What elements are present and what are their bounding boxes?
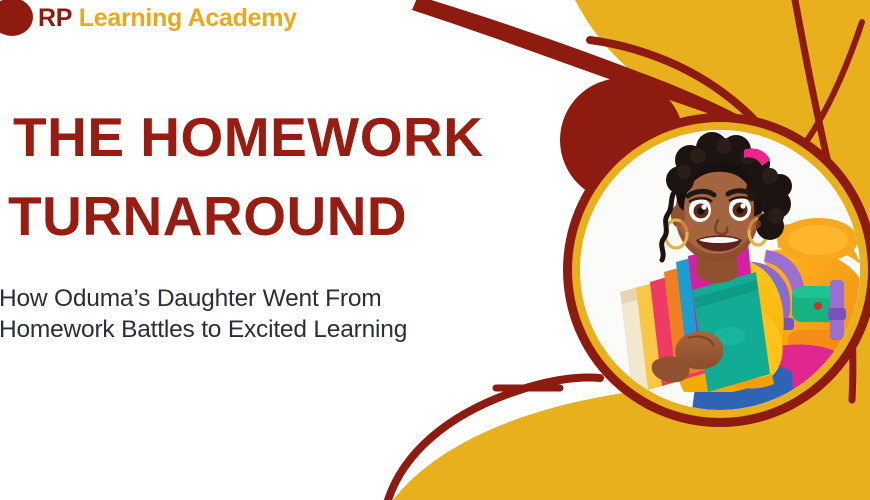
page-subtitle: How Oduma’s Daughter Went From Homework … <box>0 283 489 345</box>
portrait-frame <box>563 113 870 427</box>
page-subtitle-line-1: How Oduma’s Daughter Went From <box>0 283 489 314</box>
page-title: THE HOMEWORK TURNAROUND <box>0 98 520 256</box>
portrait-photo <box>580 130 860 410</box>
page-subtitle-line-2: Homework Battles to Excited Learning <box>0 314 489 345</box>
logo-brand-name: Learning Academy <box>79 4 297 32</box>
page-title-line-1: THE HOMEWORK <box>0 98 520 177</box>
page-title-line-2: TURNAROUND <box>0 177 520 256</box>
logo-wordmark: RP Learning Academy <box>38 2 297 34</box>
banner-canvas: RP Learning Academy THE HOMEWORK TURNARO… <box>0 0 870 500</box>
portrait-ring-inner <box>572 122 868 418</box>
logo-initials: RP <box>38 4 72 32</box>
student-illustration <box>580 130 860 410</box>
